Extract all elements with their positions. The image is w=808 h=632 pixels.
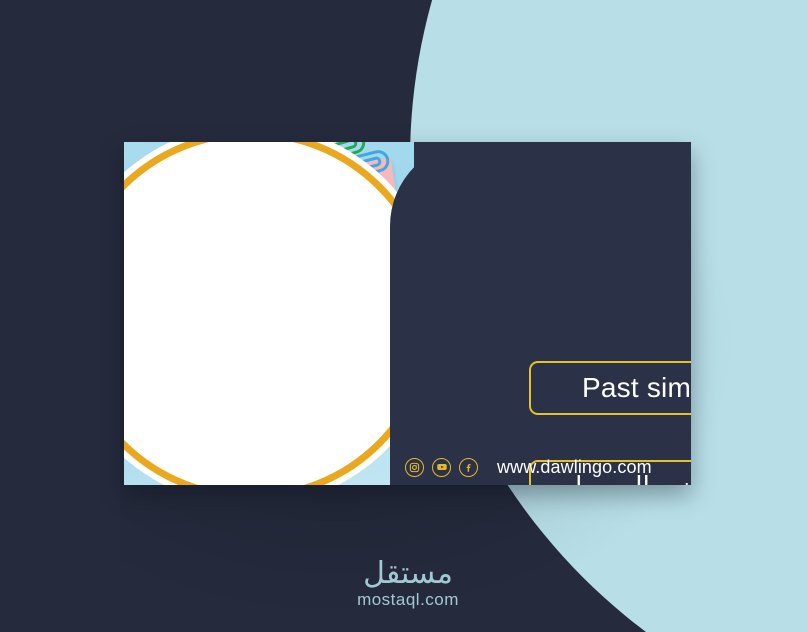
youtube-icon[interactable]	[432, 458, 451, 477]
lesson-title-english: Past simple	[582, 372, 691, 404]
facebook-icon[interactable]	[459, 458, 478, 477]
instagram-icon[interactable]	[405, 458, 424, 477]
lesson-title-english-box: Past simple	[529, 361, 691, 415]
lesson-card: Past simple الماضي البسيط	[124, 142, 691, 485]
card-dark-panel	[390, 142, 691, 485]
card-footer: www.dawlingo.com	[405, 453, 652, 481]
mostaql-watermark: مستقل mostaql.com	[338, 558, 478, 610]
website-url[interactable]: www.dawlingo.com	[497, 457, 652, 478]
slide-canvas: مستقل mostaql.com	[0, 0, 808, 632]
watermark-arabic: مستقل	[338, 558, 478, 590]
watermark-latin: mostaql.com	[338, 590, 478, 610]
